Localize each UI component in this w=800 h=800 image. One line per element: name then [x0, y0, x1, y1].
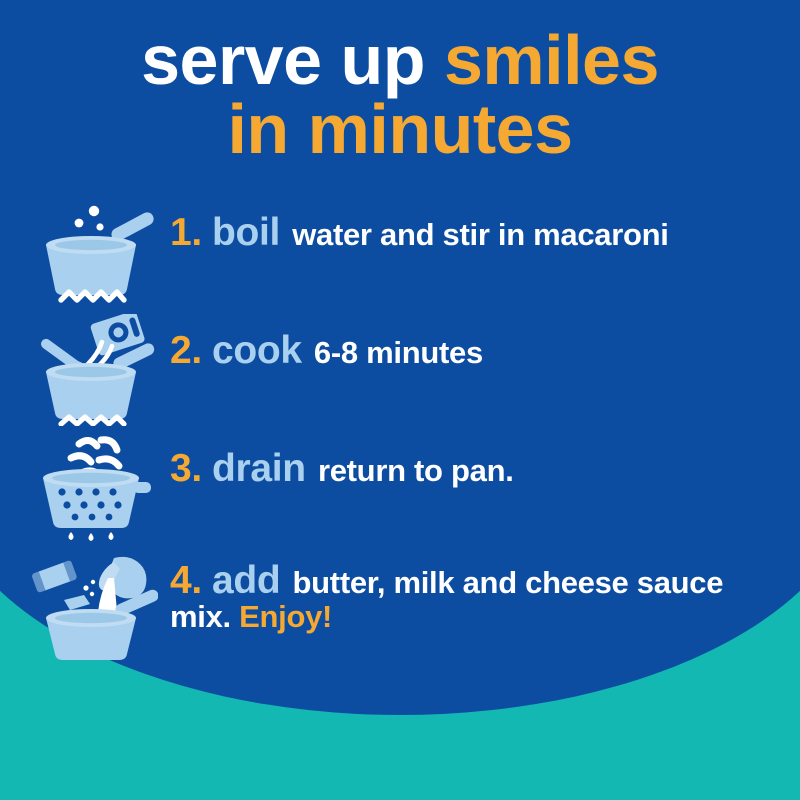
recipe-instructions-panel: serve up smiles in minutes — [0, 0, 800, 800]
step-text: 1.boil water and stir in macaroni — [170, 196, 697, 253]
step-keyword: boil — [212, 211, 280, 254]
step-keyword: drain — [212, 447, 306, 490]
step-text: 2.cook 6-8 minutes — [170, 314, 511, 371]
step-keyword: cook — [212, 329, 302, 372]
steps-list: 1.boil water and stir in macaroni — [0, 196, 800, 668]
headline-smiles: smiles — [444, 21, 659, 99]
list-item: 1.boil water and stir in macaroni — [0, 196, 800, 314]
step-body: 6-8 minutes — [314, 335, 483, 370]
headline-line-1: serve up smiles — [0, 26, 800, 95]
step-text: 3.drain return to pan. — [170, 432, 542, 489]
step-text: 4.add butter, milk and cheese sauce mix.… — [170, 550, 800, 634]
list-item: 3.drain return to pan. — [0, 432, 800, 550]
saucepan-pouring-milk-cheese-icon — [0, 550, 170, 662]
step-body: return to pan. — [318, 453, 514, 488]
step-number: 4. — [170, 559, 202, 602]
page-title: serve up smiles in minutes — [0, 26, 800, 163]
list-item: 4.add butter, milk and cheese sauce mix.… — [0, 550, 800, 668]
saucepan-boiling-icon — [0, 196, 170, 308]
list-item: 2.cook 6-8 minutes — [0, 314, 800, 432]
step-number: 1. — [170, 211, 202, 254]
saucepan-stirring-macaroni-box-icon — [0, 314, 170, 426]
colander-draining-icon — [0, 432, 170, 544]
step-number: 3. — [170, 447, 202, 490]
step-number: 2. — [170, 329, 202, 372]
headline-serve-up: serve up — [141, 21, 444, 99]
step-body-accent: Enjoy! — [239, 599, 332, 634]
step-body: water and stir in macaroni — [292, 217, 668, 252]
headline-line-2: in minutes — [0, 95, 800, 164]
step-keyword: add — [212, 559, 280, 602]
